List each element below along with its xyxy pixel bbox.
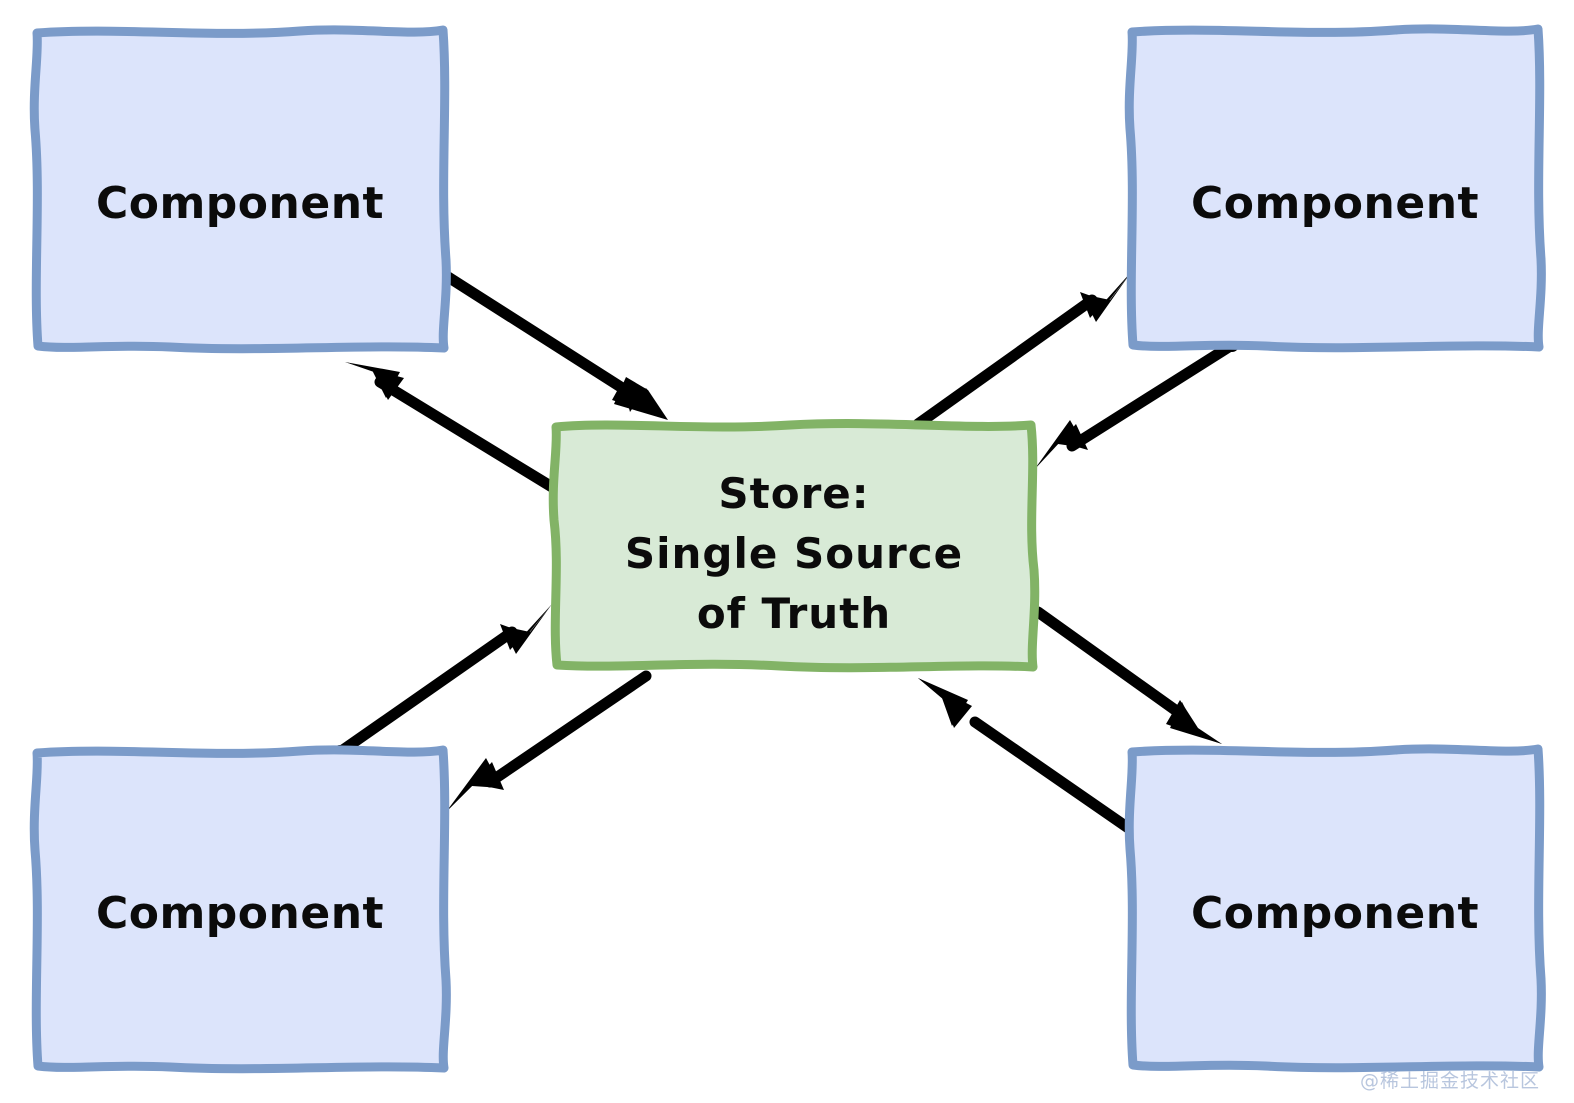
store-label-line-2: Single Source (625, 529, 963, 578)
edge-line (1038, 612, 1178, 712)
edge-component-top-right-to-store (1034, 338, 1239, 470)
edge-store-to-component-top-left (345, 362, 552, 487)
edge-line (434, 268, 638, 398)
store-label-line-1: Store: (718, 469, 869, 518)
arrowhead-icon (1034, 420, 1086, 470)
store-label-line-3: of Truth (697, 589, 891, 638)
arrowhead-icon (1080, 271, 1132, 318)
component-top-left-label: Component (96, 178, 384, 229)
node-component-bottom-left[interactable]: Component (34, 750, 446, 1069)
edge-store-to-component-top-right (918, 271, 1132, 424)
arrowhead-icon (500, 604, 552, 650)
nodes-layer: Component Component Component Component … (34, 29, 1541, 1069)
diagram-canvas: Component Component Component Component … (0, 0, 1574, 1103)
edge-store-to-component-bottom-left (446, 676, 646, 812)
edge-line (1072, 345, 1232, 446)
edge-line (340, 632, 512, 752)
component-top-right-label: Component (1191, 178, 1479, 229)
edge-line (490, 676, 646, 782)
edge-component-top-left-to-store (427, 261, 668, 420)
architecture-diagram: Component Component Component Component … (0, 0, 1574, 1103)
node-store[interactable]: Store: Single Source of Truth (553, 424, 1035, 668)
component-bottom-right-label: Component (1191, 888, 1479, 939)
edge-component-bottom-right-to-store (918, 678, 1141, 839)
component-bottom-left-label: Component (96, 888, 384, 939)
edge-component-bottom-left-to-store (333, 604, 552, 759)
node-component-top-right[interactable]: Component (1129, 29, 1541, 348)
edge-line (918, 300, 1092, 424)
edge-line (975, 722, 1134, 832)
node-component-top-left[interactable]: Component (34, 30, 446, 349)
watermark-label: @稀土掘金技术社区 (1360, 1070, 1540, 1092)
edge-line (380, 382, 552, 487)
node-component-bottom-right[interactable]: Component (1129, 749, 1541, 1068)
edge-store-to-component-bottom-right (1038, 612, 1222, 744)
